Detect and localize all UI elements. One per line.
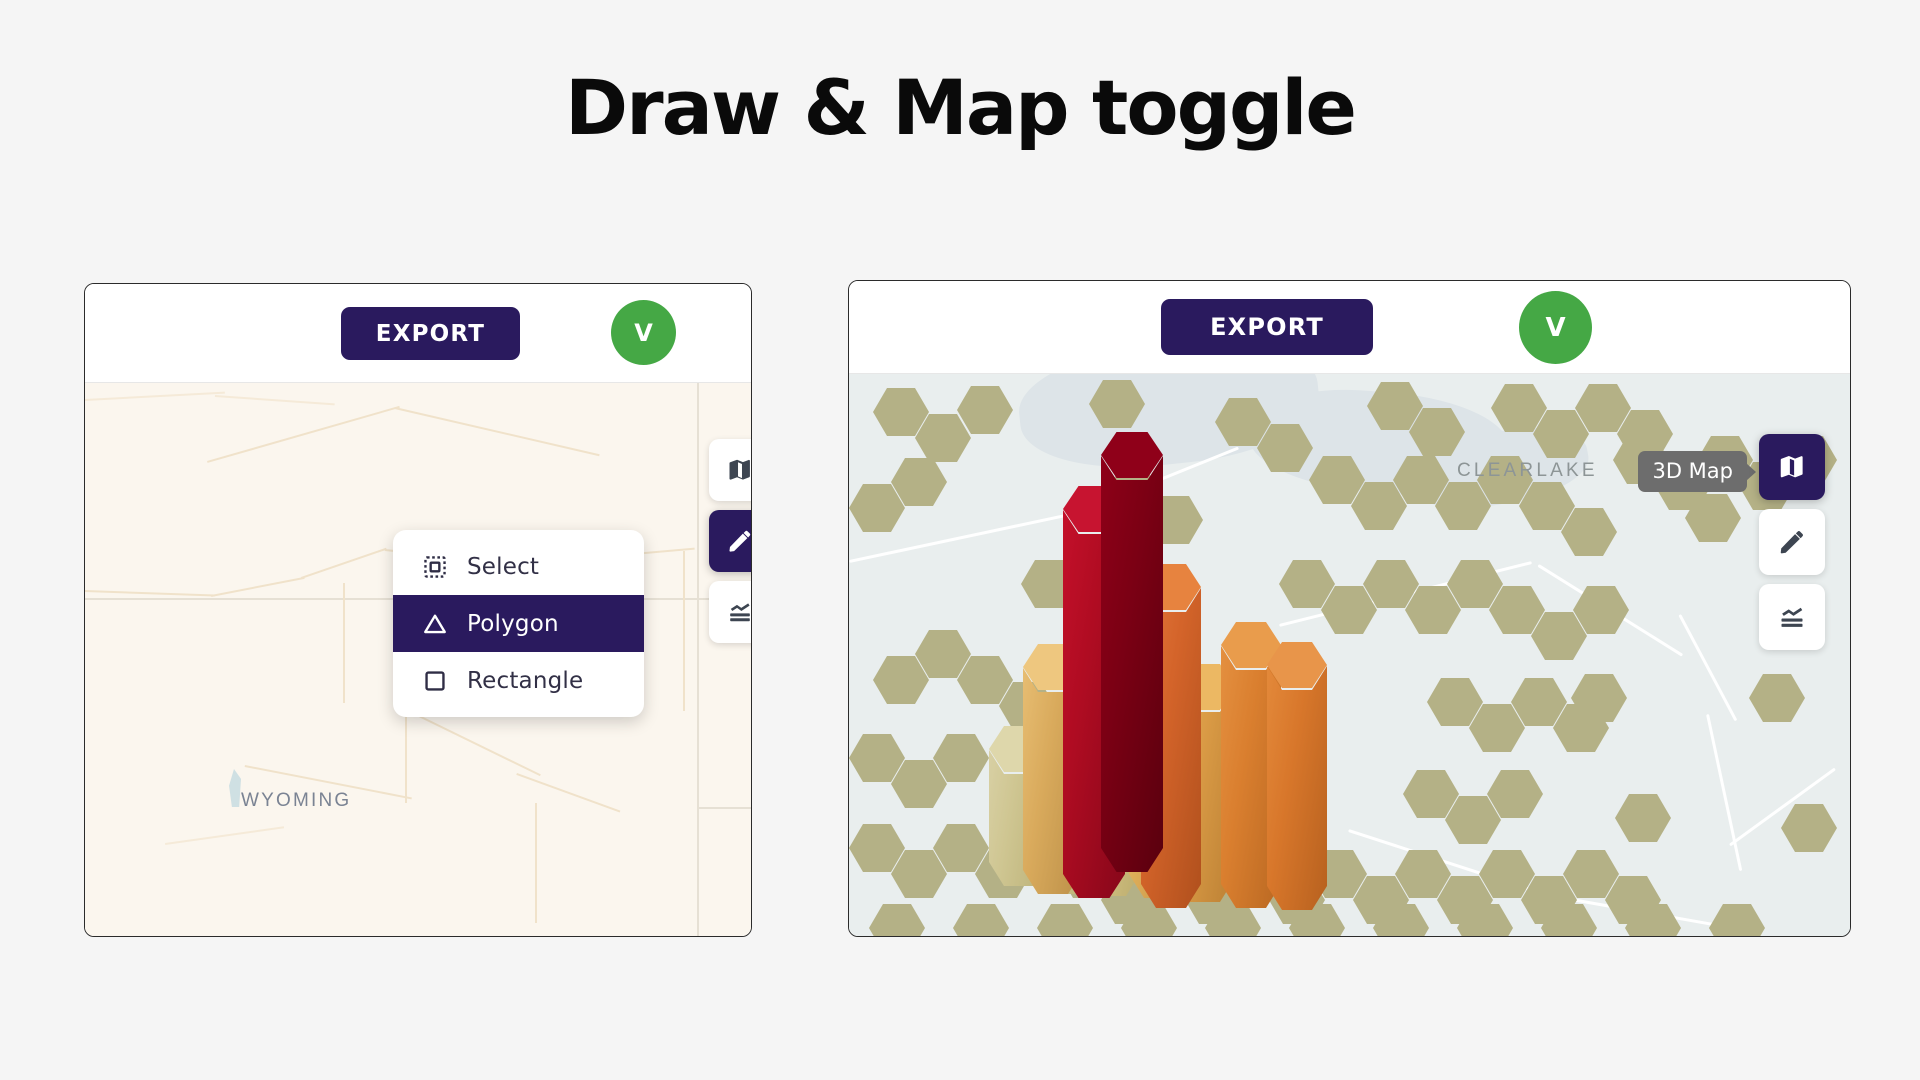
draw-menu-item-select[interactable]: Select: [393, 538, 644, 595]
map-road: [535, 803, 537, 923]
layers-chart-button[interactable]: [709, 581, 751, 643]
avatar[interactable]: V: [1519, 291, 1592, 364]
map-road: [211, 577, 305, 597]
hex-tile: [1749, 674, 1805, 722]
map-state-label: WYOMING: [241, 790, 351, 812]
hex-tile: [1781, 804, 1837, 852]
map-icon: [726, 456, 751, 484]
draw-menu-item-rectangle[interactable]: Rectangle: [393, 652, 644, 709]
draw-tool-button[interactable]: [1759, 509, 1825, 575]
map-road: [395, 407, 600, 456]
map-border-line: [697, 383, 699, 936]
map-road: [301, 548, 387, 579]
layers-chart-icon: [1777, 602, 1807, 632]
map-style-button[interactable]: [1759, 434, 1825, 500]
map-lake-shape: [228, 769, 241, 807]
map-3d-panel: EXPORT V: [848, 280, 1851, 937]
draw-menu-label: Rectangle: [467, 668, 583, 694]
pencil-icon: [1777, 527, 1807, 557]
hex-tile: [957, 386, 1013, 434]
tooltip-3d-map: 3D Map: [1638, 451, 1747, 492]
triangle-icon: [422, 611, 448, 637]
hex-tile: [1709, 904, 1765, 936]
draw-tool-button[interactable]: [709, 510, 751, 572]
hex-tile: [1615, 794, 1671, 842]
page-title: Draw & Map toggle: [0, 66, 1920, 150]
map-road: [414, 713, 541, 776]
map-road: [343, 583, 345, 703]
layers-chart-icon: [726, 598, 751, 626]
map-city-label: CLEARLAKE: [1457, 460, 1598, 482]
layers-chart-button[interactable]: [1759, 584, 1825, 650]
map-border-line: [697, 807, 751, 809]
map-style-button[interactable]: [709, 439, 751, 501]
avatar[interactable]: V: [611, 300, 676, 365]
map-road: [85, 590, 215, 597]
square-icon: [422, 668, 448, 694]
map-road: [405, 713, 407, 803]
hex-column: [1101, 432, 1163, 872]
draw-menu-item-polygon[interactable]: Polygon: [393, 595, 644, 652]
draw-panel: EXPORT V WYOMING: [84, 283, 752, 937]
map-canvas-3d[interactable]: CLEARLAKE 3D Map: [849, 374, 1850, 936]
map-toolbar-right: [1759, 434, 1825, 650]
hex-tile: [1089, 380, 1145, 428]
pencil-icon: [726, 527, 751, 555]
map-road: [207, 406, 400, 463]
map-road: [516, 773, 620, 813]
export-button[interactable]: EXPORT: [341, 307, 520, 360]
dashed-square-icon: [422, 554, 448, 580]
map-road: [683, 551, 685, 711]
map-road: [85, 392, 225, 401]
panel-header-right: EXPORT V: [849, 281, 1850, 374]
panel-header-left: EXPORT V: [85, 284, 751, 383]
map-road: [165, 826, 284, 845]
map-canvas-2d[interactable]: WYOMING: [85, 383, 751, 936]
hex-tile: [1037, 904, 1093, 936]
draw-menu-label: Polygon: [467, 611, 559, 637]
export-button[interactable]: EXPORT: [1161, 299, 1373, 355]
map-road: [215, 395, 335, 405]
draw-menu-label: Select: [467, 554, 539, 580]
hex-tile: [869, 904, 925, 936]
draw-menu: Select Polygon Rectangle: [393, 530, 644, 717]
map-icon: [1777, 452, 1807, 482]
map-toolbar-left: [709, 439, 751, 643]
hex-tile: [953, 904, 1009, 936]
hex-column: [1267, 642, 1327, 910]
